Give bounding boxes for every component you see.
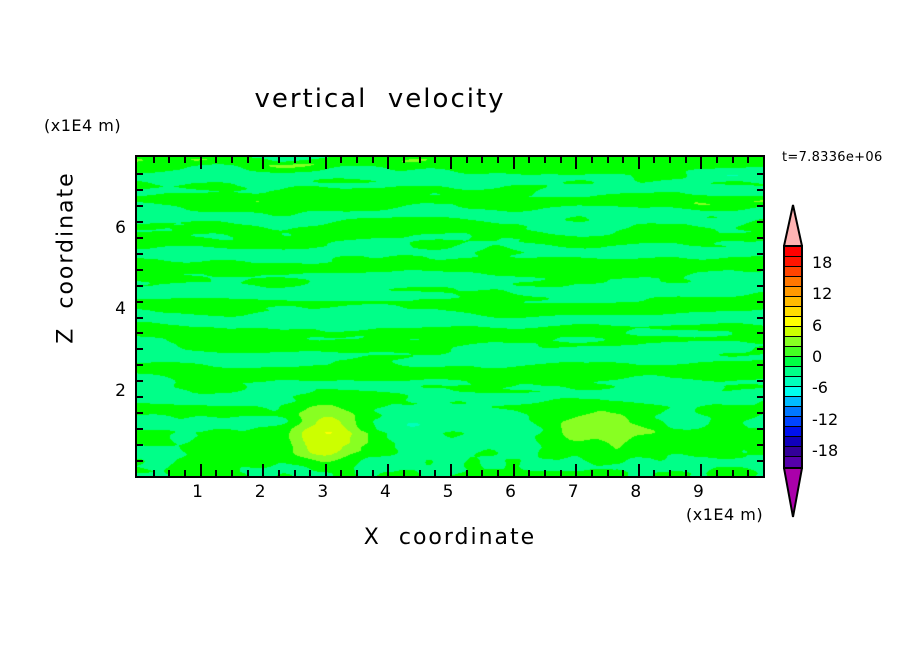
axis-tick [757, 317, 763, 319]
axis-tick [757, 380, 763, 382]
axis-tick [262, 464, 264, 476]
axis-tick [732, 157, 734, 163]
page-title: vertical velocity [0, 84, 760, 114]
axis-tick [137, 380, 143, 382]
x-tick-label: 2 [245, 482, 275, 502]
colorbar-band [785, 367, 801, 377]
axis-tick [685, 157, 687, 163]
axis-tick [757, 428, 763, 430]
axis-tick [153, 157, 155, 163]
x-axis-unit-label: (x1E4 m) [686, 505, 763, 524]
axis-tick [356, 470, 358, 476]
axis-tick [757, 253, 763, 255]
axis-tick [137, 189, 143, 191]
axis-tick [747, 470, 749, 476]
colorbar-band [785, 437, 801, 447]
axis-tick [716, 157, 718, 163]
axis-tick [372, 157, 374, 163]
colorbar-over-cap [783, 203, 803, 247]
axis-tick [757, 444, 763, 446]
axis-tick [137, 348, 143, 350]
axis-tick [137, 317, 143, 319]
axis-tick [215, 157, 217, 163]
figure-canvas: vertical velocity (x1E4 m) (x1E4 m) X co… [0, 0, 904, 654]
axis-tick [247, 470, 249, 476]
axis-tick [653, 157, 655, 163]
axis-tick [560, 157, 562, 163]
x-tick-label: 3 [308, 482, 338, 502]
axis-tick [528, 157, 530, 163]
axis-tick [387, 464, 389, 476]
colorbar-band [785, 347, 801, 357]
axis-tick [638, 464, 640, 476]
axis-tick [262, 157, 264, 169]
axis-tick [137, 173, 143, 175]
axis-tick [466, 470, 468, 476]
axis-tick [137, 460, 143, 462]
axis-tick [247, 157, 249, 163]
x-tick-label: 7 [558, 482, 588, 502]
axis-tick [700, 157, 702, 169]
axis-tick [575, 464, 577, 476]
colorbar-under-cap [783, 467, 803, 519]
axis-tick [732, 470, 734, 476]
axis-tick [168, 470, 170, 476]
axis-tick [387, 157, 389, 169]
axis-tick [757, 348, 763, 350]
axis-tick [340, 157, 342, 163]
colorbar-band [785, 357, 801, 367]
axis-tick [356, 157, 358, 163]
axis-tick [200, 464, 202, 476]
axis-tick [450, 157, 452, 169]
axis-tick [278, 157, 280, 163]
axis-tick [200, 157, 202, 169]
axis-tick [419, 470, 421, 476]
contour-plot-area [135, 155, 765, 478]
y-tick-label: 4 [96, 299, 126, 319]
colorbar-band [785, 297, 801, 307]
axis-tick [434, 470, 436, 476]
colorbar-band [785, 317, 801, 327]
axis-tick [372, 470, 374, 476]
colorbar-band [785, 267, 801, 277]
axis-tick [434, 157, 436, 163]
x-axis-title: X coordinate [135, 525, 765, 550]
contour-field [137, 157, 763, 476]
axis-tick [497, 157, 499, 163]
colorbar-band [785, 247, 801, 257]
axis-tick [544, 470, 546, 476]
axis-tick [137, 396, 143, 398]
axis-tick [607, 470, 609, 476]
axis-tick [513, 464, 515, 476]
colorbar-band [785, 457, 801, 467]
axis-tick [638, 157, 640, 169]
axis-tick [757, 237, 763, 239]
axis-tick [450, 464, 452, 476]
colorbar-tick-label: 6 [812, 316, 822, 335]
y-tick-label: 2 [96, 381, 126, 401]
axis-tick [419, 157, 421, 163]
axis-tick [757, 364, 763, 366]
axis-tick [403, 157, 405, 163]
axis-tick [137, 253, 143, 255]
axis-tick [757, 460, 763, 462]
colorbar-tick-label: 18 [812, 253, 832, 272]
colorbar-tick-label: 12 [812, 284, 832, 303]
axis-tick [544, 157, 546, 163]
x-tick-label: 9 [683, 482, 713, 502]
axis-tick [137, 237, 143, 239]
axis-tick [294, 157, 296, 163]
axis-tick [653, 470, 655, 476]
axis-tick [278, 470, 280, 476]
axis-tick [184, 157, 186, 163]
colorbar-band [785, 427, 801, 437]
colorbar-band [785, 287, 801, 297]
axis-tick [497, 470, 499, 476]
axis-tick [575, 157, 577, 169]
axis-tick [231, 157, 233, 163]
axis-tick [215, 470, 217, 476]
axis-tick [757, 269, 763, 271]
axis-tick [747, 157, 749, 163]
colorbar [783, 245, 803, 469]
axis-tick [184, 470, 186, 476]
axis-tick [403, 470, 405, 476]
colorbar-band [785, 387, 801, 397]
x-tick-label: 5 [433, 482, 463, 502]
timestamp-annotation: t=7.8336e+06 [782, 150, 883, 165]
axis-tick [137, 221, 143, 223]
axis-tick [622, 470, 624, 476]
colorbar-band [785, 377, 801, 387]
axis-tick [669, 157, 671, 163]
axis-tick [137, 364, 143, 366]
axis-tick [137, 301, 143, 303]
axis-tick [591, 470, 593, 476]
x-tick-label: 4 [370, 482, 400, 502]
colorbar-band [785, 257, 801, 267]
y-tick-label: 6 [96, 218, 126, 238]
axis-tick [622, 157, 624, 163]
x-tick-label: 8 [621, 482, 651, 502]
axis-tick [325, 464, 327, 476]
axis-tick [137, 269, 143, 271]
axis-tick [757, 396, 763, 398]
axis-tick [137, 428, 143, 430]
colorbar-band [785, 327, 801, 337]
axis-tick [340, 470, 342, 476]
axis-tick [466, 157, 468, 163]
axis-tick [757, 173, 763, 175]
axis-tick [560, 470, 562, 476]
axis-tick [137, 444, 143, 446]
axis-tick [481, 470, 483, 476]
z-axis-unit-label: (x1E4 m) [44, 116, 121, 135]
axis-tick [757, 301, 763, 303]
colorbar-band [785, 277, 801, 287]
colorbar-band [785, 397, 801, 407]
axis-tick [309, 157, 311, 163]
axis-tick [325, 157, 327, 169]
axis-tick [294, 470, 296, 476]
axis-tick [137, 412, 143, 414]
axis-tick [757, 332, 763, 334]
colorbar-tick-label: -12 [812, 410, 838, 429]
axis-tick [716, 470, 718, 476]
x-tick-label: 6 [496, 482, 526, 502]
axis-tick [757, 189, 763, 191]
y-axis-title: Z coordinate [54, 158, 79, 358]
axis-tick [669, 470, 671, 476]
colorbar-tick-label: 0 [812, 347, 822, 366]
axis-tick [153, 470, 155, 476]
axis-tick [168, 157, 170, 163]
axis-tick [231, 470, 233, 476]
axis-tick [607, 157, 609, 163]
colorbar-band [785, 337, 801, 347]
colorbar-tick-label: -6 [812, 378, 828, 397]
axis-tick [757, 221, 763, 223]
colorbar-band [785, 417, 801, 427]
axis-tick [757, 285, 763, 287]
axis-tick [757, 412, 763, 414]
axis-tick [528, 470, 530, 476]
axis-tick [513, 157, 515, 169]
colorbar-band [785, 447, 801, 457]
axis-tick [700, 464, 702, 476]
x-tick-label: 1 [183, 482, 213, 502]
axis-tick [309, 470, 311, 476]
axis-tick [137, 205, 143, 207]
axis-tick [591, 157, 593, 163]
axis-tick [481, 157, 483, 163]
axis-tick [137, 332, 143, 334]
axis-tick [685, 470, 687, 476]
colorbar-band [785, 307, 801, 317]
axis-tick [137, 285, 143, 287]
colorbar-band [785, 407, 801, 417]
colorbar-tick-label: -18 [812, 441, 838, 460]
axis-tick [757, 205, 763, 207]
